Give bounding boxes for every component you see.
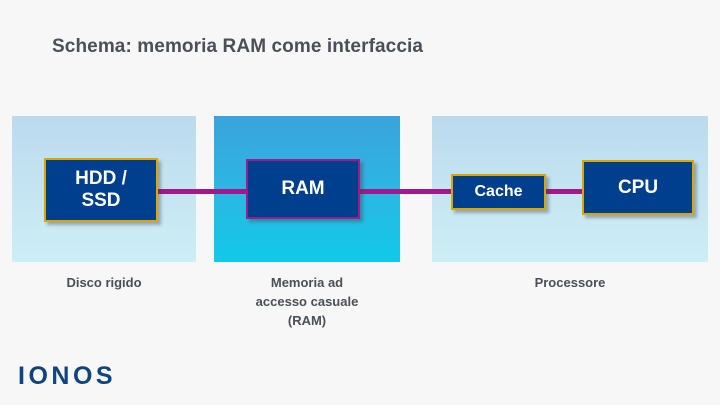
caption-panel-disk-text: Disco rigido [66, 275, 141, 290]
block-cache: Cache [451, 174, 546, 210]
caption-panel-ram-line3: (RAM) [288, 313, 326, 328]
caption-panel-processor: Processore [432, 274, 708, 293]
connector-hdd-to-ram [152, 189, 250, 194]
connector-cache-to-cpu [542, 189, 586, 194]
block-cpu-label: CPU [618, 177, 658, 199]
caption-panel-disk: Disco rigido [12, 274, 196, 293]
page-title: Schema: memoria RAM come interfaccia [52, 36, 423, 58]
block-hdd-ssd-line2: SSD [81, 190, 120, 211]
ionos-logo: IONOS [18, 362, 116, 391]
connector-ram-to-cache [356, 189, 455, 194]
caption-panel-processor-text: Processore [535, 275, 606, 290]
block-hdd-ssd-line1: HDD / [75, 168, 127, 189]
caption-panel-ram-line2: accesso casuale [256, 294, 359, 309]
block-ram-label: RAM [281, 178, 324, 200]
block-hdd-ssd-label: HDD /SSD [75, 168, 127, 212]
block-cpu: CPU [582, 160, 694, 215]
slide-canvas: Schema: memoria RAM come interfaccia HDD… [0, 0, 720, 405]
block-cache-label: Cache [474, 183, 522, 201]
caption-panel-ram-line1: Memoria ad [271, 275, 343, 290]
caption-panel-ram: Memoria ad accesso casuale (RAM) [214, 274, 400, 331]
block-hdd-ssd: HDD /SSD [44, 158, 158, 222]
block-ram: RAM [246, 159, 360, 219]
